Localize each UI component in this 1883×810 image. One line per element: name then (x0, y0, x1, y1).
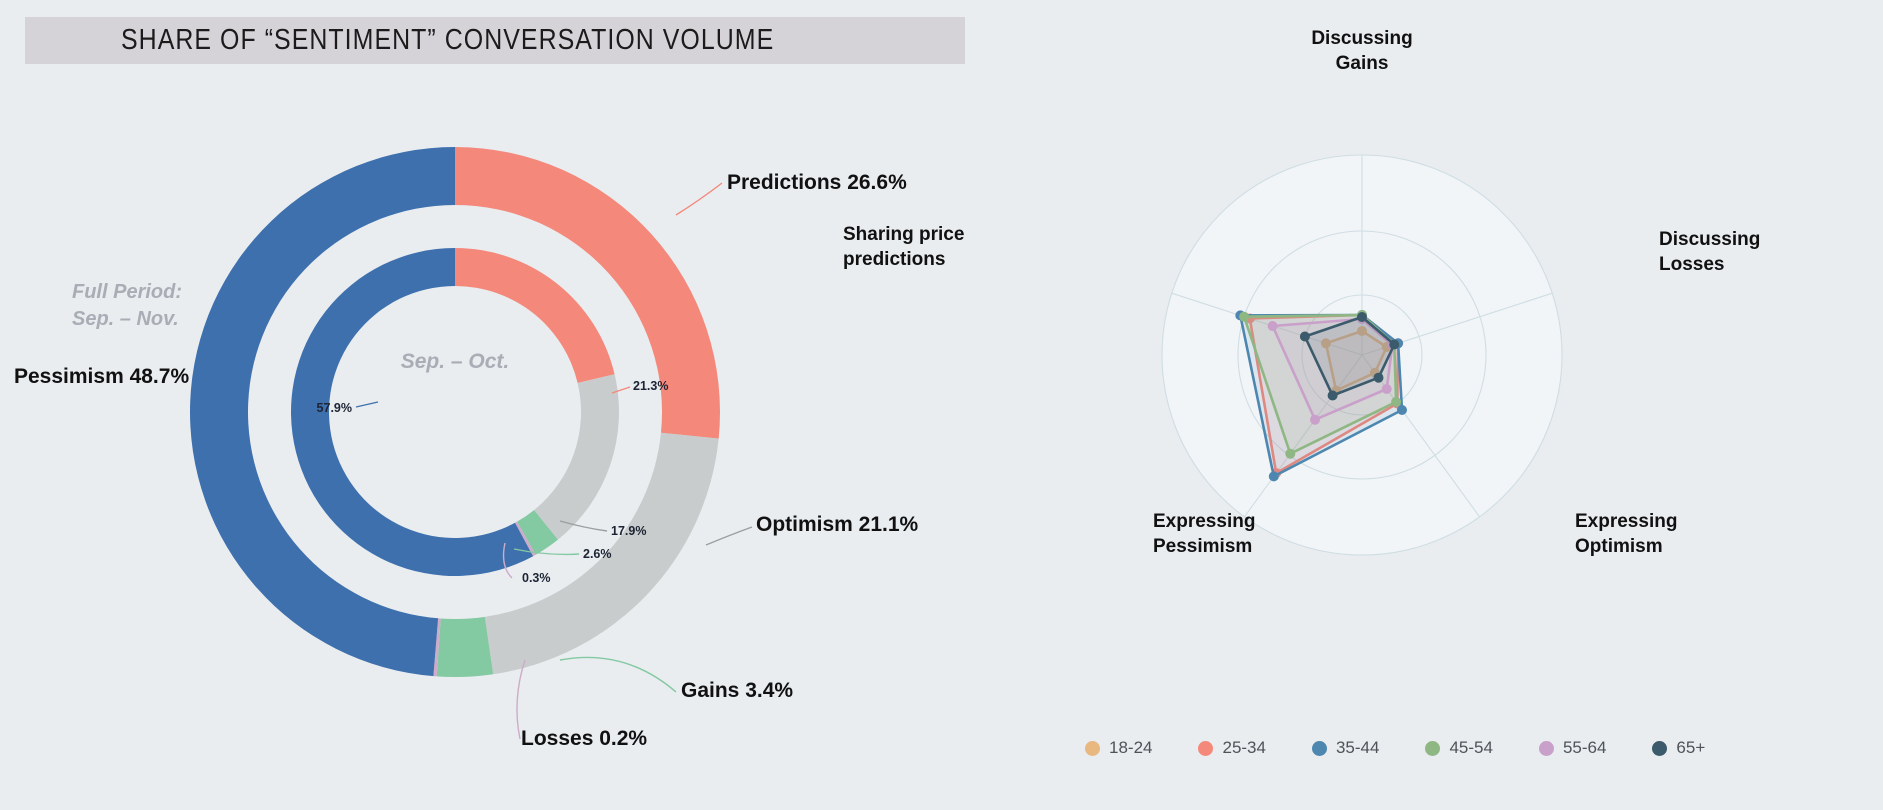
optimism-label: Optimism 21.1% (756, 513, 919, 536)
radar-point-35-44-2 (1397, 405, 1407, 415)
radar-point-65+-4 (1300, 332, 1310, 342)
axis-expressing-pessimism-line2: Pessimism (1153, 536, 1252, 557)
radar-legend: 18-2425-3435-4445-5455-6465+ (1085, 738, 1705, 758)
inner-pessimism-value: 57.9% (317, 401, 352, 415)
legend-label-18-24: 18-24 (1109, 738, 1152, 758)
donut-slice-optimism (534, 374, 619, 539)
axis-discussing-gains-line1: Discussing (1311, 28, 1412, 49)
inner-optimism-value: 17.9% (611, 524, 646, 538)
legend-item-65+[interactable]: 65+ (1652, 738, 1705, 758)
inner-losses-value: 0.3% (522, 571, 551, 585)
full-period-label-line2: Sep. – Nov. (72, 308, 179, 330)
predictions-label: Predictions 26.6% (727, 171, 907, 194)
legend-swatch-18-24 (1085, 741, 1100, 756)
legend-swatch-65+ (1652, 741, 1667, 756)
gains-label: Gains 3.4% (681, 679, 793, 702)
radar-chart-panel: Discussing Gains Discussing Losses Expre… (960, 0, 1883, 810)
radar-point-45-54-4 (1239, 312, 1249, 322)
inner-gains-value: 2.6% (583, 547, 612, 561)
axis-sharing-price-predictions-line2: predictions (843, 249, 945, 270)
radar-point-55-64-4 (1268, 321, 1278, 331)
legend-label-65+: 65+ (1676, 738, 1705, 758)
legend-item-45-54[interactable]: 45-54 (1425, 738, 1492, 758)
legend-swatch-45-54 (1425, 741, 1440, 756)
losses-label: Losses 0.2% (521, 727, 647, 750)
donut-slice-gains (437, 617, 493, 677)
legend-swatch-35-44 (1312, 741, 1327, 756)
leader-inner-57 (356, 402, 378, 407)
outer-donut-ring (190, 147, 720, 677)
legend-label-45-54: 45-54 (1449, 738, 1492, 758)
axis-expressing-optimism-line2: Optimism (1575, 536, 1663, 557)
axis-discussing-gains-line2: Gains (1336, 53, 1389, 74)
radar-point-45-54-3 (1285, 449, 1295, 459)
full-period-label-line1: Full Period: (72, 281, 182, 303)
axis-sharing-price-predictions-line1: Sharing price (843, 224, 964, 245)
inner-period-label: Sep. – Oct. (401, 350, 510, 373)
legend-item-25-34[interactable]: 25-34 (1198, 738, 1265, 758)
radar-point-55-64-2 (1382, 384, 1392, 394)
radar-chart-svg: Discussing Gains Discussing Losses Expre… (960, 0, 1883, 810)
axis-discussing-losses-line2: Losses (1659, 254, 1724, 275)
legend-label-35-44: 35-44 (1336, 738, 1379, 758)
donut-chart-svg: Full Period: Sep. – Nov. Sep. – Oct. Pes… (0, 0, 960, 810)
legend-item-35-44[interactable]: 35-44 (1312, 738, 1379, 758)
radar-point-55-64-3 (1310, 415, 1320, 425)
donut-chart-panel: Full Period: Sep. – Nov. Sep. – Oct. Pes… (0, 0, 960, 810)
legend-swatch-25-34 (1198, 741, 1213, 756)
leader-optimism (706, 527, 752, 545)
pessimism-label: Pessimism 48.7% (14, 365, 189, 388)
leader-gains (560, 657, 676, 692)
radar-point-35-44-3 (1269, 471, 1279, 481)
radar-point-45-54-2 (1391, 397, 1401, 407)
radar-point-65+-0 (1357, 312, 1367, 322)
radar-point-65+-1 (1389, 340, 1399, 350)
inner-predictions-value: 21.3% (633, 379, 668, 393)
radar-point-65+-3 (1328, 391, 1338, 401)
axis-discussing-losses-line1: Discussing (1659, 229, 1760, 250)
legend-label-25-34: 25-34 (1222, 738, 1265, 758)
legend-swatch-55-64 (1539, 741, 1554, 756)
axis-expressing-optimism-line1: Expressing (1575, 511, 1677, 532)
leader-predictions (676, 183, 722, 215)
axis-expressing-pessimism-line1: Expressing (1153, 511, 1255, 532)
legend-item-55-64[interactable]: 55-64 (1539, 738, 1606, 758)
radar-point-65+-2 (1374, 373, 1384, 383)
legend-item-18-24[interactable]: 18-24 (1085, 738, 1152, 758)
legend-label-55-64: 55-64 (1563, 738, 1606, 758)
